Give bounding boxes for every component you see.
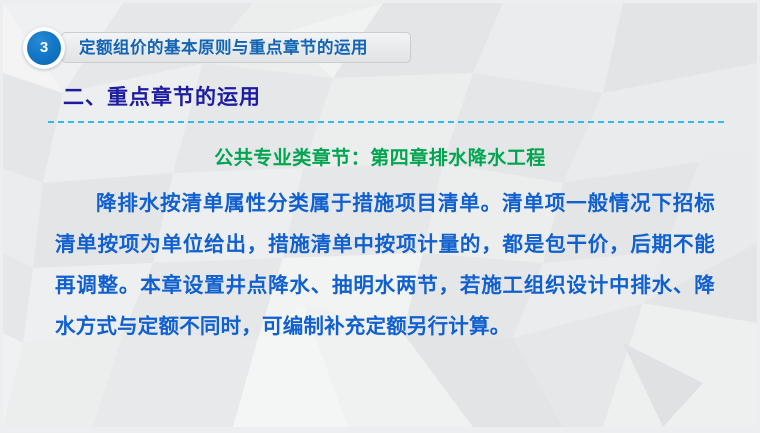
section-number-badge: 3 [23,27,65,69]
section-number-value: 3 [27,31,61,65]
content-subtitle: 公共专业类章节：第四章排水降水工程 [3,143,757,170]
section-heading: 二、重点章节的运用 [63,81,261,111]
content-paragraph: 降排水按清单属性分类属于措施项目清单。清单项一般情况下招标清单按项为单位给出，措… [55,183,715,347]
header-title-label: 定额组价的基本原则与重点章节的运用 [79,33,368,63]
slide-content-area: 定额组价的基本原则与重点章节的运用 3 二、重点章节的运用 公共专业类章节：第四… [3,3,757,427]
slide-canvas: 定额组价的基本原则与重点章节的运用 3 二、重点章节的运用 公共专业类章节：第四… [0,0,760,433]
section-divider [48,121,724,123]
